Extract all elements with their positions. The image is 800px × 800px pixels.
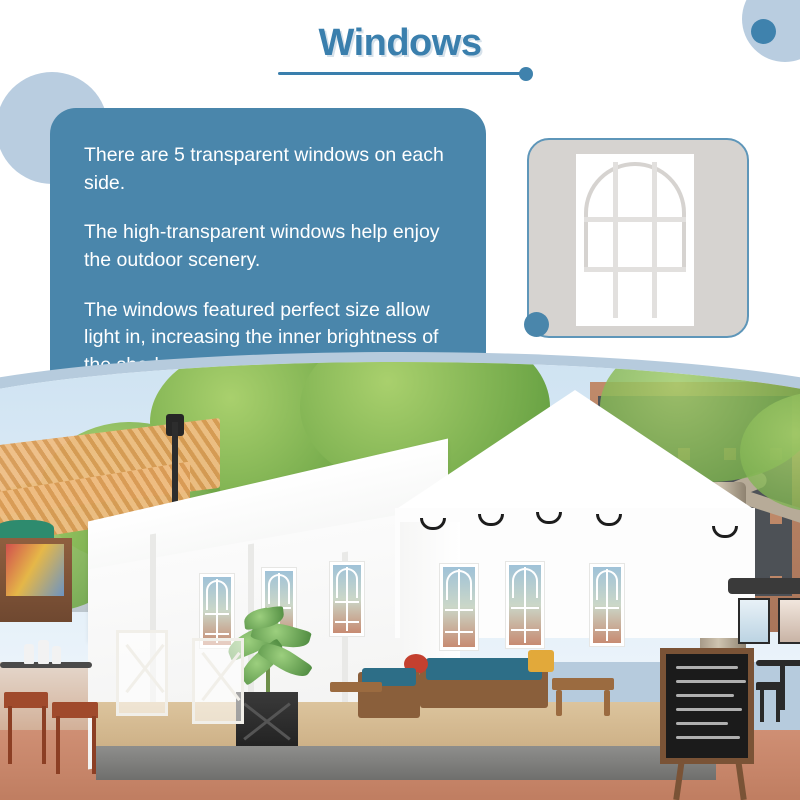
- window-mullion-horizontal: [205, 613, 229, 615]
- kiosk-awning: [0, 520, 54, 540]
- poster: [738, 598, 770, 644]
- window-mullion-horizontal: [511, 629, 539, 631]
- tent-gable-roof: [395, 390, 755, 510]
- window-mullion-horizontal: [584, 217, 686, 222]
- title-underline-dot-icon: [519, 67, 533, 81]
- deck-railing: [192, 638, 244, 724]
- deck-front-edge: [96, 746, 716, 780]
- poster: [778, 598, 800, 644]
- stool-leg: [42, 706, 46, 764]
- page-title: Windows: [0, 22, 800, 65]
- stool-leg: [776, 688, 780, 722]
- window-mullion-horizontal: [335, 601, 359, 603]
- tent-window: [330, 562, 364, 636]
- stool-leg: [760, 688, 764, 722]
- kiosk-canopy: [728, 578, 800, 594]
- window-frame-icon: [576, 154, 694, 326]
- infographic-page: Windows There are 5 transparent windows …: [0, 0, 800, 800]
- deck-railing: [116, 630, 168, 716]
- chalk-text-line: [676, 680, 746, 683]
- condiment-bottle: [38, 640, 49, 664]
- window-mullion-horizontal: [595, 629, 619, 631]
- window-card-corner-dot-icon: [524, 312, 549, 337]
- side-table: [330, 682, 382, 692]
- title-underline: [278, 72, 526, 75]
- window-mullion-horizontal: [445, 609, 473, 611]
- window-mullion-vertical: [458, 569, 460, 645]
- stool-leg: [92, 716, 96, 774]
- photo-container: [0, 362, 800, 800]
- window-mullion-horizontal: [335, 621, 359, 623]
- tent-window: [200, 574, 234, 648]
- window-mullion-horizontal: [584, 267, 686, 272]
- chalk-text-line: [676, 708, 742, 711]
- stool-leg: [8, 706, 12, 764]
- condiment-bottle: [52, 646, 61, 664]
- window-mullion-vertical: [524, 567, 526, 643]
- chalk-text-line: [676, 736, 740, 739]
- window-mullion-horizontal: [205, 633, 229, 635]
- patio-bench: [552, 678, 614, 690]
- sofa-cushion: [426, 658, 542, 680]
- stool-leg: [56, 716, 60, 774]
- chalk-text-line: [676, 666, 738, 669]
- bench-leg: [604, 690, 610, 716]
- chalk-text-line: [676, 722, 728, 725]
- tent-window: [590, 564, 624, 646]
- window-illustration-card: [527, 138, 749, 338]
- window-mullion-horizontal: [445, 631, 473, 633]
- product-photo: [0, 362, 800, 800]
- bench-leg: [556, 690, 562, 716]
- chalkboard-sign: [660, 648, 754, 764]
- info-paragraph-1: There are 5 transparent windows on each …: [84, 142, 452, 197]
- tent-window: [440, 564, 478, 650]
- window-mullion-horizontal: [511, 607, 539, 609]
- throw-pillow: [528, 650, 554, 672]
- window-mullion-vertical: [613, 162, 618, 318]
- chalk-text-line: [676, 694, 734, 697]
- window-mullion-vertical: [652, 162, 657, 318]
- kiosk-poster: [6, 544, 64, 596]
- tent-window: [506, 562, 544, 648]
- street-kiosk: [0, 538, 72, 622]
- condiment-bottle: [24, 644, 34, 664]
- cafe-table: [756, 660, 800, 666]
- window-mullion-horizontal: [595, 607, 619, 609]
- info-paragraph-2: The high-transparent windows help enjoy …: [84, 219, 452, 274]
